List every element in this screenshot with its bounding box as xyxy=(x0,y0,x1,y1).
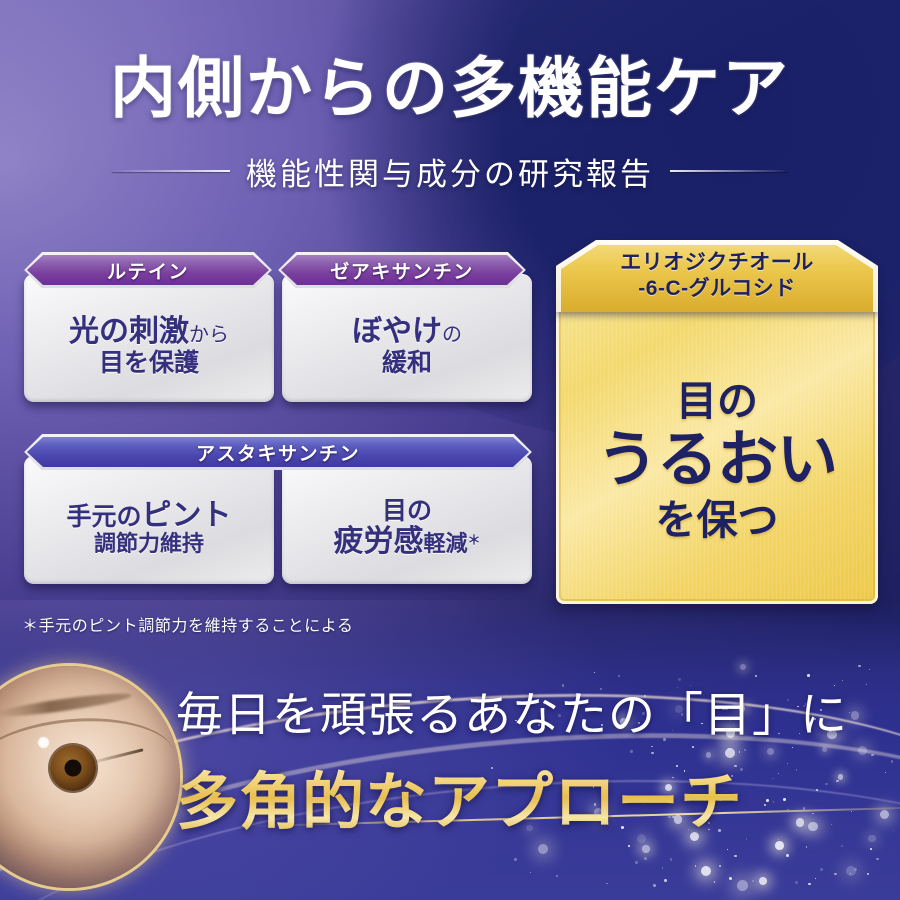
sparkle-dot xyxy=(740,664,746,670)
sparkle-dot xyxy=(635,861,637,863)
gold-body-line3: を保つ xyxy=(656,498,779,543)
pupil-shape xyxy=(65,760,82,777)
sparkle-dot xyxy=(759,877,768,886)
benefit-text-emphasis: 光の刺激 xyxy=(69,315,189,348)
ingredient-banner-astaxanthin[interactable]: アスタキサンチン xyxy=(24,434,532,470)
gold-banner-text: エリオジクチオール -6-C-グルコシド xyxy=(556,240,878,312)
subtitle-rule-right xyxy=(670,170,788,172)
sparkle-dot xyxy=(662,867,663,868)
sparkle-dot xyxy=(775,841,784,850)
gold-banner-line2: -6-C-グルコシド xyxy=(638,276,795,302)
page-subtitle: 機能性関与成分の研究報告 xyxy=(246,149,654,194)
benefit-card-zeaxanthin[interactable]: ぼやけの 緩和 xyxy=(282,274,532,402)
benefit-card-line: 緩和 xyxy=(382,349,432,377)
sparkle-dot xyxy=(867,873,870,876)
benefit-card-line: 目の xyxy=(382,497,432,525)
sparkle-dot xyxy=(752,880,755,883)
ingredient-banner-label: アスタキサンチン xyxy=(196,439,360,466)
sparkle-dot xyxy=(858,665,861,668)
ingredient-row: アスタキサンチン 手元のピント 調節力維持 目の 疲労感軽減＊ xyxy=(24,434,532,584)
sparkle-dot xyxy=(628,845,629,846)
ingredient-banner-label: ゼアキサンチン xyxy=(330,257,474,284)
closing-message: 毎日を頑張るあなたの「目」に 多角的なアプローチ xyxy=(176,676,896,841)
benefit-text-minor: の xyxy=(442,324,462,346)
sparkle-dot xyxy=(642,845,650,853)
subtitle-rule-left xyxy=(112,170,230,172)
eye-highlight xyxy=(38,737,49,748)
benefit-card-group: 手元のピント 調節力維持 目の 疲労感軽減＊ xyxy=(24,456,532,584)
ingredient-banner-lutein[interactable]: ルテイン xyxy=(24,252,272,288)
sparkle-dot xyxy=(808,883,811,886)
ingredient-banner-zeaxanthin[interactable]: ゼアキサンチン xyxy=(278,252,526,288)
eyebrow-shape xyxy=(0,690,131,721)
sparkle-dot xyxy=(834,873,836,875)
gold-body-line1: 目の xyxy=(676,379,758,424)
sparkle-dot xyxy=(714,881,716,883)
ribbon-group: アスタキサンチン xyxy=(24,434,532,470)
sparkle-dot xyxy=(815,878,816,879)
sparkle-dot xyxy=(514,858,517,861)
sparkle-dot xyxy=(664,879,667,882)
sparkle-dot xyxy=(786,854,789,857)
sparkle-dot xyxy=(538,844,549,855)
ribbon-group: ルテイン ゼアキサンチン xyxy=(24,252,532,288)
sparkle-dot xyxy=(870,848,872,850)
sparkle-dot xyxy=(653,884,656,887)
footnote-text: ＊手元のピント調節力を維持することによる xyxy=(22,612,354,636)
ingredient-grid: ルテイン ゼアキサンチン 光の刺激から 目を保護 ぼやけの xyxy=(24,252,532,584)
sparkle-dot xyxy=(846,866,856,876)
benefit-text-minor: 手元の xyxy=(66,503,141,531)
sparkle-dot xyxy=(737,880,748,891)
benefit-card-focus[interactable]: 手元のピント 調節力維持 xyxy=(24,456,274,584)
benefit-card-line: 疲労感軽減＊ xyxy=(333,525,480,559)
closing-line-1: 毎日を頑張るあなたの「目」に xyxy=(176,676,896,745)
ad-canvas: 内側からの多機能ケア 機能性関与成分の研究報告 ルテイン ゼアキサンチン xyxy=(0,0,900,900)
benefit-card-lutein[interactable]: 光の刺激から 目を保護 xyxy=(24,274,274,402)
benefit-card-line: ぼやけの xyxy=(352,315,462,349)
sparkle-dot xyxy=(719,865,721,867)
sparkle-dot xyxy=(869,669,870,670)
gold-banner-line1: エリオジクチオール xyxy=(620,250,814,276)
benefit-card-line: 調節力維持 xyxy=(94,532,204,557)
sparkle-dot xyxy=(644,857,647,860)
benefit-card-group: 光の刺激から 目を保護 ぼやけの 緩和 xyxy=(24,274,532,402)
gold-body-line2: うるおい xyxy=(597,426,837,493)
header: 内側からの多機能ケア 機能性関与成分の研究報告 xyxy=(0,54,900,194)
sparkle-dot xyxy=(876,858,879,861)
benefit-text-minor: 軽減 xyxy=(423,531,467,556)
benefit-text-emphasis: ぼやけ xyxy=(352,315,442,348)
gold-banner: エリオジクチオール -6-C-グルコシド xyxy=(556,240,878,312)
sparkle-dot xyxy=(594,672,595,673)
benefit-card-fatigue[interactable]: 目の 疲労感軽減＊ xyxy=(282,456,532,584)
closing-line-2: 多角的なアプローチ xyxy=(176,751,896,841)
benefit-card-line: 手元のピント xyxy=(66,499,231,533)
ingredient-banner-label: ルテイン xyxy=(107,257,189,284)
sparkle-dot xyxy=(695,865,697,867)
gold-feature-card[interactable]: エリオジクチオール -6-C-グルコシド 目の うるおい を保つ xyxy=(556,240,878,604)
sparkle-dot xyxy=(729,877,732,880)
sparkle-dot xyxy=(701,866,711,876)
benefit-text-minor: から xyxy=(189,324,229,346)
sparkle-dot xyxy=(795,881,798,884)
sparkle-dot xyxy=(806,846,808,848)
benefit-text-emphasis: 疲労感 xyxy=(333,525,423,558)
sparkle-dot xyxy=(606,883,607,884)
page-title: 内側からの多機能ケア xyxy=(0,54,900,127)
sparkle-dot xyxy=(727,849,728,850)
gold-card-body: 目の うるおい を保つ xyxy=(556,304,878,604)
sparkle-dot xyxy=(820,868,823,871)
sparkle-dot xyxy=(670,858,673,861)
sparkle-dot xyxy=(734,855,736,857)
sparkle-dot xyxy=(530,872,531,873)
footnote-marker: ＊ xyxy=(468,533,481,548)
benefit-card-line: 目を保護 xyxy=(99,349,199,377)
sparkle-dot xyxy=(556,875,558,877)
iris-shape xyxy=(50,745,96,791)
sparkle-dot xyxy=(841,845,843,847)
subtitle-group: 機能性関与成分の研究報告 xyxy=(0,149,900,194)
ingredient-row: ルテイン ゼアキサンチン 光の刺激から 目を保護 ぼやけの xyxy=(24,252,532,402)
benefit-text-emphasis: ピント xyxy=(142,499,232,532)
benefit-card-line: 光の刺激から xyxy=(69,315,229,349)
